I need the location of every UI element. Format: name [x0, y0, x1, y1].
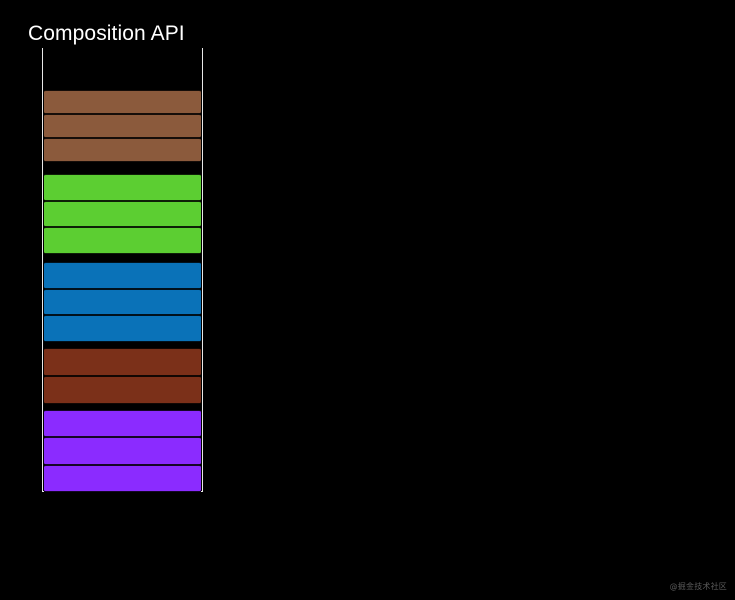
watermark: @掘金技术社区	[670, 582, 727, 592]
bar-segment[interactable]	[44, 138, 201, 162]
rust-group[interactable]	[44, 348, 201, 404]
blue-group[interactable]	[44, 262, 201, 342]
green-group[interactable]	[44, 174, 201, 254]
bar-segment[interactable]	[44, 410, 201, 437]
brown-group[interactable]	[44, 90, 201, 162]
stacked-bar-column[interactable]	[44, 48, 201, 492]
bar-segment[interactable]	[44, 289, 201, 316]
bar-segment[interactable]	[44, 376, 201, 404]
bar-chart	[42, 48, 203, 492]
bar-segment[interactable]	[44, 174, 201, 201]
bar-segment[interactable]	[44, 114, 201, 138]
page-title: Composition API	[28, 21, 185, 46]
bar-segment[interactable]	[44, 348, 201, 376]
bar-segment[interactable]	[44, 465, 201, 492]
bar-segment[interactable]	[44, 262, 201, 289]
purple-group[interactable]	[44, 410, 201, 492]
bar-segment[interactable]	[44, 201, 201, 228]
bar-segment[interactable]	[44, 437, 201, 464]
bar-segment[interactable]	[44, 315, 201, 342]
bar-segment[interactable]	[44, 227, 201, 254]
bar-segment[interactable]	[44, 90, 201, 114]
